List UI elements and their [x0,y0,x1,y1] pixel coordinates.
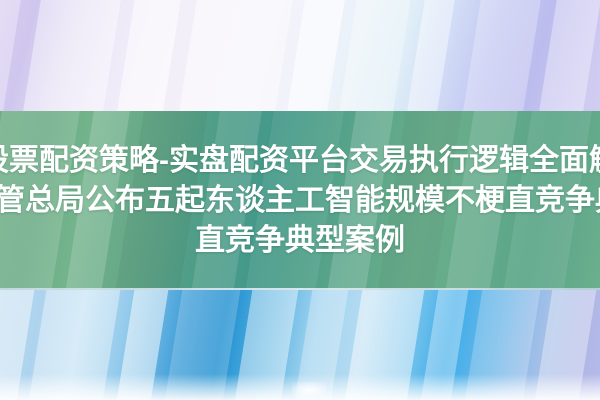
streak [114,0,192,111]
streak [536,0,600,111]
headline-line-3: 直竞争典型案例 [195,221,405,261]
streak [23,290,132,400]
top-gradient-band [0,0,600,111]
headline-line-2: 阛监管总局公布五起东谈主工智能规模不梗直竞争典型 [0,181,600,221]
banner-image: 股票配资策略-实盘配资平台交易执行逻辑全面解 阛监管总局公布五起东谈主工智能规模… [0,0,600,400]
streak [404,0,466,111]
headline-line-1: 股票配资策略-实盘配资平台交易执行逻辑全面解 [0,141,600,181]
headline-text-block: 股票配资策略-实盘配资平台交易执行逻辑全面解 阛监管总局公布五起东谈主工智能规模… [0,111,600,290]
streak [20,0,132,111]
bottom-band-streaks [0,290,600,400]
streak [339,290,436,400]
streak [176,0,304,111]
bottom-gradient-band [0,290,600,400]
streak [529,290,600,400]
streak [460,0,552,111]
top-band-streaks [0,0,600,111]
